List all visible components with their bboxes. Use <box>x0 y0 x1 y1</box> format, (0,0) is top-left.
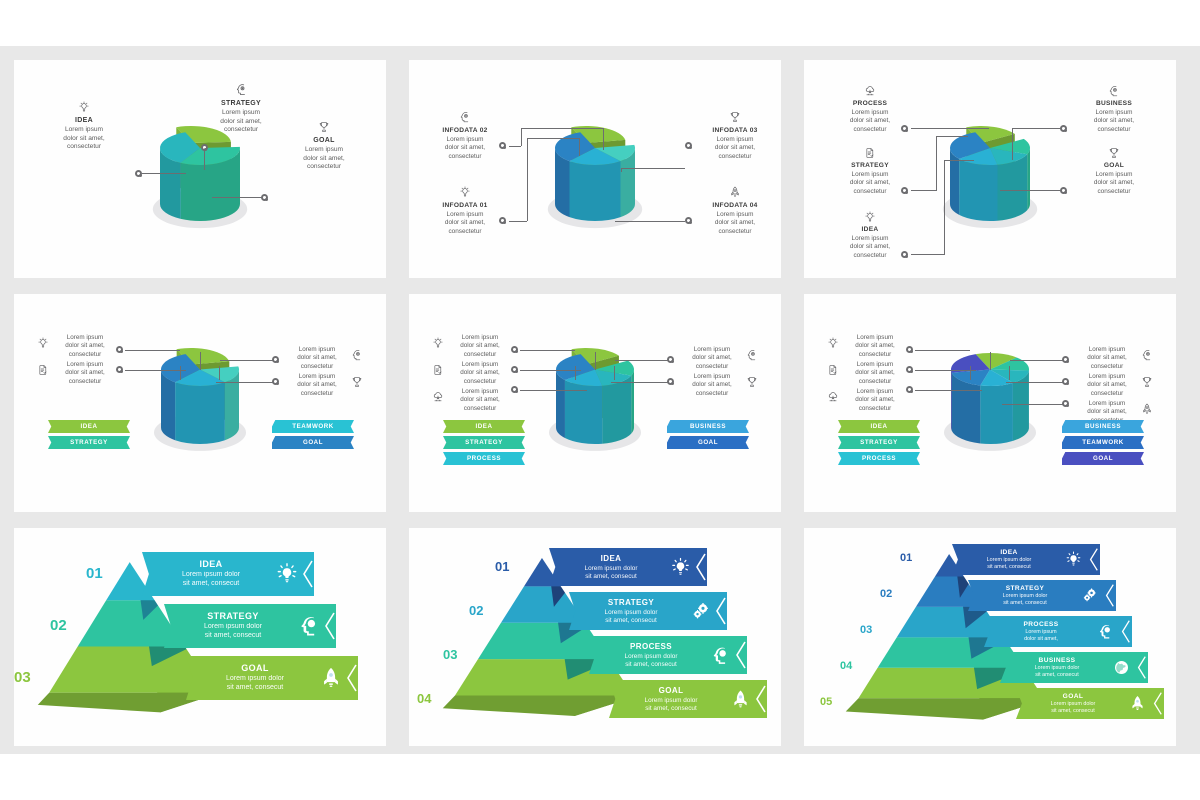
note-dot-left-1[interactable] <box>511 346 518 353</box>
ribbon-label: PROCESS <box>467 455 501 462</box>
banner-icon-wrap <box>1076 586 1102 605</box>
note-dot-left-2[interactable] <box>906 366 913 373</box>
connector-line <box>1009 366 1010 380</box>
callout-title: IDEA <box>30 117 138 124</box>
note-text-right-2: Lorem ipsumdolor sit amet,consectetur <box>286 373 348 398</box>
banner-icon-wrap <box>687 600 713 623</box>
callout-icon-wrap <box>822 146 918 160</box>
note-icon-left-1 <box>431 336 445 350</box>
banner-process[interactable]: PROCESSLorem ipsum dolorsit amet, consec… <box>589 636 747 674</box>
head-gear-icon <box>1107 84 1121 98</box>
banner-icon-wrap <box>1060 550 1086 569</box>
banner-strategy[interactable]: STRATEGYLorem ipsum dolorsit amet, conse… <box>968 580 1116 611</box>
ribbon-label: BUSINESS <box>1085 423 1121 430</box>
callout-idea[interactable]: IDEALorem ipsumdolor sit amet,consectetu… <box>30 100 138 152</box>
ribbon-right-2[interactable]: GOAL <box>667 436 749 449</box>
panel-pyramid-5: IDEALorem ipsum dolorsit amet, consecut0… <box>804 528 1176 746</box>
connector-line <box>615 221 685 222</box>
callout-icon-wrap <box>270 120 378 134</box>
connector-line <box>216 382 274 383</box>
note-text-left-3: Lorem ipsumdolor sit amet,consectetur <box>844 388 906 413</box>
connector-line <box>125 370 186 371</box>
banner-title: IDEA <box>958 549 1060 556</box>
lightbulb-icon <box>36 336 50 350</box>
ribbon-label: GOAL <box>1093 455 1113 462</box>
panel-cylinder-4-infodata: INFODATA 02Lorem ipsumdolor sit amet,con… <box>409 60 781 278</box>
callout-title: INFODATA 03 <box>699 127 771 134</box>
ribbon-left-1[interactable]: IDEA <box>838 420 920 433</box>
ribbon-left-3[interactable]: PROCESS <box>443 452 525 465</box>
panel-cylinder-ribbons-5: Lorem ipsumdolor sit amet,consecteturLor… <box>409 294 781 512</box>
note-icon-left-2 <box>826 363 840 377</box>
connector-line <box>509 146 521 147</box>
note-icon-left-2 <box>431 363 445 377</box>
banner-icon-wrap <box>1108 658 1134 677</box>
trophy-icon <box>1107 146 1121 160</box>
lightbulb-icon <box>863 210 877 224</box>
lightbulb-icon <box>274 561 300 587</box>
connector-line <box>219 366 220 380</box>
callout-2[interactable]: INFODATA 01Lorem ipsumdolor sit amet,con… <box>429 185 501 236</box>
banner-text-block: GOALLorem ipsum dolorsit amet, consecut <box>609 686 727 713</box>
connector-line <box>595 352 596 370</box>
connector-line <box>970 366 971 380</box>
banner-subtitle: Lorem ipsum dolorsit amet, consecut <box>555 565 667 581</box>
banner-text-block: STRATEGYLorem ipsum dolorsit amet, conse… <box>569 598 687 625</box>
ribbon-label: BUSINESS <box>690 423 726 430</box>
note-icon-left-1 <box>826 336 840 350</box>
connector-line <box>615 360 669 361</box>
banner-subtitle: Lorem ipsum dolorsit amet, consecut <box>615 697 727 713</box>
panel-cylinder-3-callouts: STRATEGYLorem ipsumdolor sit amet,consec… <box>14 60 386 278</box>
banner-chevron-icon <box>1086 544 1100 575</box>
callout-icon-wrap <box>30 100 138 114</box>
connector-line <box>915 350 970 351</box>
cloud-icon <box>863 84 877 98</box>
connector-line <box>911 254 944 255</box>
infographic-template-sheet: STRATEGYLorem ipsumdolor sit amet,consec… <box>0 0 1200 800</box>
banner-business[interactable]: BUSINESSLorem ipsum dolorsit amet, conse… <box>1000 652 1148 683</box>
callout-icon-wrap <box>429 110 501 124</box>
banner-text-block: PROCESSLorem ipsumdolor sit amet, <box>984 621 1092 642</box>
banner-title: STRATEGY <box>170 611 296 621</box>
ribbon-label: IDEA <box>81 423 98 430</box>
connector-line <box>125 350 180 351</box>
banner-subtitle: Lorem ipsum dolorsit amet, consecut <box>974 593 1076 606</box>
gears-icon <box>1080 586 1099 605</box>
callout-right-1[interactable]: BUSINESSLorem ipsumdolor sit amet,consec… <box>1066 84 1162 134</box>
pyramid-level-number-04: 04 <box>417 691 431 706</box>
cloud-icon <box>826 390 840 404</box>
rocket-icon <box>729 688 752 711</box>
ribbon-label: IDEA <box>871 423 888 430</box>
note-icon-right-2 <box>350 375 364 389</box>
callout-dot-4[interactable] <box>685 217 692 224</box>
lightbulb-icon <box>1064 550 1083 569</box>
banner-strategy[interactable]: STRATEGYLorem ipsum dolorsit amet, conse… <box>164 604 336 648</box>
connector-line <box>915 390 982 391</box>
pyramid-level-number-05: 05 <box>820 696 832 708</box>
connector-line <box>575 366 576 380</box>
connector-line <box>990 352 991 370</box>
banner-strategy[interactable]: STRATEGYLorem ipsum dolorsit amet, conse… <box>569 592 727 630</box>
cloud-icon <box>431 390 445 404</box>
note-text-left-2: Lorem ipsumdolor sit amet,consectetur <box>844 361 906 386</box>
ribbon-left-1[interactable]: IDEA <box>443 420 525 433</box>
banner-subtitle: Lorem ipsum dolorsit amet, consecut <box>575 609 687 625</box>
ribbon-label: PROCESS <box>862 455 896 462</box>
connector-line <box>579 138 580 156</box>
ribbon-label: STRATEGY <box>860 439 898 446</box>
banner-text-block: STRATEGYLorem ipsum dolorsit amet, conse… <box>968 585 1076 606</box>
ribbon-label: IDEA <box>476 423 493 430</box>
callout-text: Lorem ipsumdolor sit amet,consectetur <box>1066 109 1162 134</box>
banner-chevron-icon <box>344 656 358 700</box>
callout-text: Lorem ipsumdolor sit amet,consectetur <box>1066 171 1162 196</box>
callout-title: INFODATA 02 <box>429 127 501 134</box>
note-text-left-2: Lorem ipsumdolor sit amet,consectetur <box>449 361 511 386</box>
callout-dot-idea[interactable] <box>135 170 142 177</box>
note-dot-left-3[interactable] <box>511 386 518 393</box>
note-text-right-1: Lorem ipsumdolor sit amet,consectetur <box>286 346 348 371</box>
connector-line <box>1010 360 1064 361</box>
pyramid-level-number-03: 03 <box>860 624 872 636</box>
ribbon-left-2[interactable]: STRATEGY <box>48 436 130 449</box>
banner-chevron-icon <box>693 548 707 586</box>
callout-goal[interactable]: GOALLorem ipsumdolor sit amet,consectetu… <box>270 120 378 172</box>
rocket-icon <box>1140 402 1154 416</box>
panel-cylinder-ribbons-4: Lorem ipsumdolor sit amet,consecteturLor… <box>14 294 386 512</box>
trophy-icon <box>745 375 759 389</box>
connector-line <box>521 128 603 129</box>
connector-line <box>142 173 186 174</box>
note-dot-left-1[interactable] <box>116 346 123 353</box>
connector-line <box>911 190 936 191</box>
callout-dot-left-2[interactable] <box>901 187 908 194</box>
note-text-left-1: Lorem ipsumdolor sit amet,consectetur <box>54 334 116 359</box>
pyramid-level-number-01: 01 <box>495 559 509 574</box>
connector-line <box>936 136 937 191</box>
lightbulb-icon <box>669 556 692 579</box>
ribbon-right-1[interactable]: TEAMWORK <box>272 420 354 433</box>
head-gear-icon <box>234 82 249 97</box>
callout-title: PROCESS <box>822 100 918 107</box>
callout-text: Lorem ipsumdolor sit amet,consectetur <box>699 211 771 236</box>
banner-text-block: GOALLorem ipsum dolorsit amet, consecut <box>186 663 318 692</box>
banner-icon-wrap <box>296 613 322 639</box>
banner-subtitle: Lorem ipsum dolorsit amet, consecut <box>595 653 707 669</box>
callout-title: STRATEGY <box>186 100 296 107</box>
connector-line <box>527 138 528 221</box>
head-gear-icon <box>350 348 364 362</box>
callout-dot-1[interactable] <box>499 142 506 149</box>
note-icon-right-1 <box>745 348 759 362</box>
connector-line <box>212 197 264 198</box>
banner-subtitle: Lorem ipsum dolorsit amet, consecut <box>958 557 1060 570</box>
connector-line <box>621 168 685 169</box>
banner-title: PROCESS <box>595 642 707 651</box>
banner-text-block: PROCESSLorem ipsum dolorsit amet, consec… <box>589 642 707 669</box>
connector-line <box>915 370 976 371</box>
callout-icon-wrap <box>1066 84 1162 98</box>
banner-subtitle: Lorem ipsum dolorsit amet, consecut <box>1006 665 1108 678</box>
callout-dot-2[interactable] <box>499 217 506 224</box>
banner-chevron-icon <box>733 636 747 674</box>
banner-goal[interactable]: GOALLorem ipsum dolorsit amet, consecut <box>1016 688 1164 719</box>
ribbon-right-1[interactable]: BUSINESS <box>1062 420 1144 433</box>
banner-chevron-icon <box>1118 616 1132 647</box>
banner-text-block: STRATEGYLorem ipsum dolorsit amet, conse… <box>164 611 296 640</box>
head-gear-icon <box>745 348 759 362</box>
callout-title: GOAL <box>1066 162 1162 169</box>
cylinder-chart <box>920 111 1060 241</box>
banner-chevron-icon <box>1102 580 1116 611</box>
ribbon-left-3[interactable]: PROCESS <box>838 452 920 465</box>
banner-icon-wrap <box>727 688 753 711</box>
callout-text: Lorem ipsumdolor sit amet,consectetur <box>699 136 771 161</box>
callout-title: INFODATA 04 <box>699 202 771 209</box>
head-gear-icon <box>1140 348 1154 362</box>
callout-icon-wrap <box>1066 146 1162 160</box>
banner-icon-wrap <box>318 665 344 691</box>
banner-icon-wrap <box>1124 694 1150 713</box>
connector-line <box>611 382 669 383</box>
connector-line <box>520 390 587 391</box>
banner-title: IDEA <box>555 554 667 563</box>
connector-line <box>944 160 945 255</box>
document-icon <box>36 363 50 377</box>
note-icon-right-3 <box>1140 402 1154 416</box>
note-text-right-2: Lorem ipsumdolor sit amet,consectetur <box>681 373 743 398</box>
banner-text-block: BUSINESSLorem ipsum dolorsit amet, conse… <box>1000 657 1108 678</box>
banner-subtitle: Lorem ipsum dolorsit amet, consecut <box>192 675 318 692</box>
ribbon-left-1[interactable]: IDEA <box>48 420 130 433</box>
banner-title: GOAL <box>1022 693 1124 700</box>
connector-line <box>520 350 575 351</box>
pyramid-level-number-01: 01 <box>86 565 103 582</box>
banner-chevron-icon <box>322 604 336 648</box>
pyramid-level-number-02: 02 <box>50 617 67 634</box>
banner-idea[interactable]: IDEALorem ipsum dolorsit amet, consecut <box>549 548 707 586</box>
connector-line <box>944 160 974 161</box>
rocket-icon <box>318 665 344 691</box>
banner-idea[interactable]: IDEALorem ipsum dolorsit amet, consecut <box>142 552 314 596</box>
banner-icon-wrap <box>274 561 300 587</box>
banner-goal[interactable]: GOALLorem ipsum dolorsit amet, consecut <box>609 680 767 718</box>
ribbon-label: TEAMWORK <box>292 423 334 430</box>
banner-subtitle: Lorem ipsum dolorsit amet, consecut <box>148 571 274 588</box>
connector-line <box>204 148 205 170</box>
banner-title: IDEA <box>148 559 274 569</box>
connector-line <box>527 138 579 139</box>
callout-title: BUSINESS <box>1066 100 1162 107</box>
note-icon-right-1 <box>1140 348 1154 362</box>
callout-title: INFODATA 01 <box>429 202 501 209</box>
banner-subtitle: Lorem ipsum dolorsit amet, consecut <box>170 623 296 640</box>
lightbulb-icon <box>826 336 840 350</box>
connector-line <box>911 128 989 129</box>
connector-line <box>509 221 527 222</box>
banner-chevron-icon <box>1150 688 1164 719</box>
callout-dot-left-1[interactable] <box>901 125 908 132</box>
note-text-right-2: Lorem ipsumdolor sit amet,consectetur <box>1076 373 1138 398</box>
callout-dot-3[interactable] <box>685 142 692 149</box>
banner-title: GOAL <box>192 663 318 673</box>
banner-process[interactable]: PROCESSLorem ipsumdolor sit amet, <box>984 616 1132 647</box>
panel-cylinder-5-callouts: PROCESSLorem ipsumdolor sit amet,consect… <box>804 60 1176 278</box>
connector-line <box>936 136 968 137</box>
head-target-icon <box>709 644 732 667</box>
banner-title: BUSINESS <box>1006 657 1108 664</box>
trophy-icon <box>728 110 742 124</box>
banner-title: GOAL <box>615 686 727 695</box>
banner-icon-wrap <box>1092 622 1118 641</box>
connector-line <box>614 366 615 380</box>
pyramid-level-number-03: 03 <box>443 647 457 662</box>
note-icon-left-1 <box>36 336 50 350</box>
connector-line <box>520 370 581 371</box>
callout-title: GOAL <box>270 137 378 144</box>
connector-line <box>621 168 622 172</box>
connector-line <box>521 128 522 146</box>
note-dot-left-3[interactable] <box>906 386 913 393</box>
banner-subtitle: Lorem ipsum dolorsit amet, consecut <box>1022 701 1124 714</box>
ribbon-label: TEAMWORK <box>1082 439 1124 446</box>
rocket-icon <box>728 185 742 199</box>
trophy-icon <box>1140 375 1154 389</box>
connector-line <box>1012 128 1062 129</box>
banner-chevron-icon <box>713 592 727 630</box>
callout-dot-left-3[interactable] <box>901 251 908 258</box>
note-text-left-2: Lorem ipsumdolor sit amet,consectetur <box>54 361 116 386</box>
banner-title: STRATEGY <box>974 585 1076 592</box>
connector-line <box>1012 128 1013 160</box>
connector-line <box>220 360 274 361</box>
banner-icon-wrap <box>667 556 693 579</box>
callout-dot-goal[interactable] <box>261 194 268 201</box>
head-target-icon <box>1096 622 1115 641</box>
banner-chevron-icon <box>753 680 767 718</box>
trophy-icon <box>350 375 364 389</box>
connector-line <box>180 366 181 380</box>
callout-text: Lorem ipsumdolor sit amet,consectetur <box>429 211 501 236</box>
banner-idea[interactable]: IDEALorem ipsum dolorsit amet, consecut <box>952 544 1100 575</box>
note-icon-right-1 <box>350 348 364 362</box>
banner-goal[interactable]: GOALLorem ipsum dolorsit amet, consecut <box>186 656 358 700</box>
callout-icon-wrap <box>822 84 918 98</box>
gears-icon <box>689 600 712 623</box>
note-dot-left-1[interactable] <box>906 346 913 353</box>
connector-line <box>603 128 604 150</box>
panel-cylinder-ribbons-6: Lorem ipsumdolor sit amet,consecteturLor… <box>804 294 1176 512</box>
connector-line <box>1002 404 1064 405</box>
callout-icon-wrap <box>186 82 296 97</box>
head-gear-icon <box>458 110 472 124</box>
trophy-icon <box>317 120 331 134</box>
banner-text-block: IDEALorem ipsum dolorsit amet, consecut <box>952 549 1060 570</box>
pyramid-level-number-03: 03 <box>14 669 31 686</box>
panel-pyramid-4: IDEALorem ipsum dolorsit amet, consecut0… <box>409 528 781 746</box>
note-icon-left-3 <box>431 390 445 404</box>
callout-3[interactable]: INFODATA 03Lorem ipsumdolor sit amet,con… <box>699 110 771 161</box>
lightbulb-icon <box>431 336 445 350</box>
banner-text-block: IDEALorem ipsum dolorsit amet, consecut <box>142 559 274 588</box>
panel-pyramid-3: IDEALorem ipsum dolorsit amet, consecut0… <box>14 528 386 746</box>
pyramid-level-number-02: 02 <box>469 603 483 618</box>
callout-text: Lorem ipsumdolor sit amet,consectetur <box>30 126 138 152</box>
callout-dot-strategy[interactable] <box>201 144 208 151</box>
banner-text-block: IDEALorem ipsum dolorsit amet, consecut <box>549 554 667 581</box>
banner-title: STRATEGY <box>575 598 687 607</box>
ribbon-label: GOAL <box>698 439 718 446</box>
ribbon-label: STRATEGY <box>465 439 503 446</box>
banner-icon-wrap <box>707 644 733 667</box>
banner-title: PROCESS <box>990 621 1092 628</box>
lightbulb-icon <box>458 185 472 199</box>
note-text-left-1: Lorem ipsumdolor sit amet,consectetur <box>449 334 511 359</box>
pyramid-level-number-02: 02 <box>880 588 892 600</box>
note-text-left-3: Lorem ipsumdolor sit amet,consectetur <box>449 388 511 413</box>
ribbon-right-1[interactable]: BUSINESS <box>667 420 749 433</box>
connector-line <box>1000 190 1062 191</box>
pyramid-level-number-04: 04 <box>840 660 852 672</box>
banner-chevron-icon <box>300 552 314 596</box>
note-dot-left-2[interactable] <box>511 366 518 373</box>
note-icon-left-3 <box>826 390 840 404</box>
callout-icon-wrap <box>699 185 771 199</box>
head-target-icon <box>296 613 322 639</box>
note-icon-right-2 <box>1140 375 1154 389</box>
callout-icon-wrap <box>822 210 918 224</box>
connector-line <box>200 352 201 370</box>
ribbon-label: STRATEGY <box>70 439 108 446</box>
banner-chevron-icon <box>1134 652 1148 683</box>
pyramid-level-number-01: 01 <box>900 552 912 564</box>
note-icon-right-2 <box>745 375 759 389</box>
callout-title: STRATEGY <box>822 162 918 169</box>
rocket-icon <box>1128 694 1147 713</box>
ribbon-left-2[interactable]: STRATEGY <box>838 436 920 449</box>
callout-right-2[interactable]: GOALLorem ipsumdolor sit amet,consectetu… <box>1066 146 1162 196</box>
document-icon <box>431 363 445 377</box>
callout-icon-wrap <box>699 110 771 124</box>
document-icon <box>826 363 840 377</box>
ribbon-right-3[interactable]: GOAL <box>1062 452 1144 465</box>
callout-title: IDEA <box>822 226 918 233</box>
callout-4[interactable]: INFODATA 04Lorem ipsumdolor sit amet,con… <box>699 185 771 236</box>
note-icon-left-2 <box>36 363 50 377</box>
banner-text-block: GOALLorem ipsum dolorsit amet, consecut <box>1016 693 1124 714</box>
document-icon <box>863 146 877 160</box>
connector-line <box>1006 382 1064 383</box>
ribbon-left-2[interactable]: STRATEGY <box>443 436 525 449</box>
note-text-right-1: Lorem ipsumdolor sit amet,consectetur <box>681 346 743 371</box>
note-text-right-1: Lorem ipsumdolor sit amet,consectetur <box>1076 346 1138 371</box>
ribbon-label: GOAL <box>303 439 323 446</box>
note-text-left-1: Lorem ipsumdolor sit amet,consectetur <box>844 334 906 359</box>
ribbon-right-2[interactable]: GOAL <box>272 436 354 449</box>
note-dot-left-2[interactable] <box>116 366 123 373</box>
lightbulb-icon <box>77 100 91 114</box>
callout-icon-wrap <box>429 185 501 199</box>
callout-text: Lorem ipsumdolor sit amet,consectetur <box>429 136 501 161</box>
callout-text: Lorem ipsumdolor sit amet,consectetur <box>270 146 378 172</box>
banner-subtitle: Lorem ipsumdolor sit amet, <box>990 629 1092 642</box>
callout-1[interactable]: INFODATA 02Lorem ipsumdolor sit amet,con… <box>429 110 501 161</box>
globe-icon <box>1112 658 1131 677</box>
ribbon-right-2[interactable]: TEAMWORK <box>1062 436 1144 449</box>
